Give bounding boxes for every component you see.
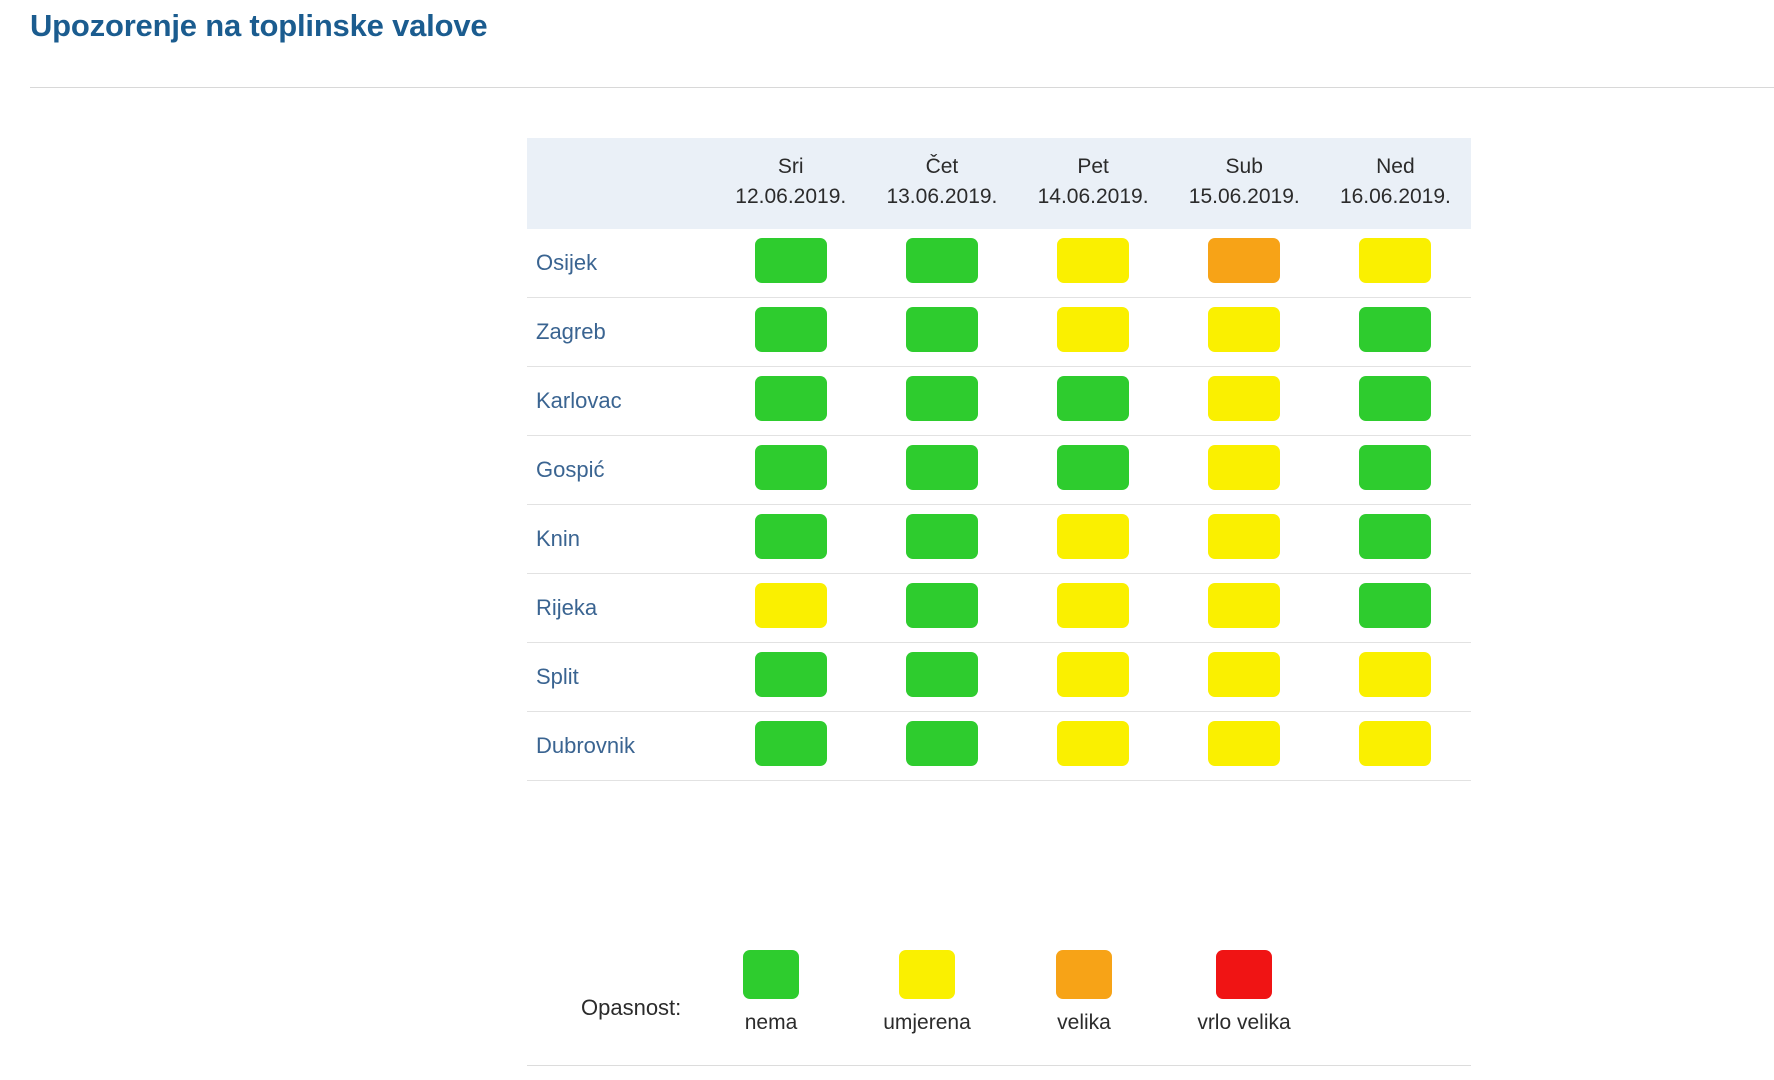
table-row: Gospić [527,435,1471,504]
column-header-weekday: Pet [1018,152,1169,182]
legend-caption: umjerena [857,1011,997,1035]
legend-item-vrlo-velika: vrlo velika [1174,950,1314,1035]
table-row: Osijek [527,229,1471,298]
warning-cell [866,229,1017,298]
danger-swatch-nema [906,652,978,697]
column-header-date: 16.06.2019. [1320,182,1471,212]
danger-swatch-umjerena [1057,583,1129,628]
column-header-date: 14.06.2019. [1018,182,1169,212]
danger-swatch-nema [906,583,978,628]
danger-swatch-nema [1057,445,1129,490]
warning-cell [1018,573,1169,642]
legend-swatch-vrlo-velika [1216,950,1272,999]
danger-swatch-nema [755,307,827,352]
warning-cell [1320,297,1471,366]
warning-cell [1169,573,1320,642]
title-divider [30,87,1774,88]
legend-caption: nema [701,1011,841,1035]
column-header-date: 15.06.2019. [1169,182,1320,212]
warning-cell [866,504,1017,573]
legend-swatch-velika [1056,950,1112,999]
legend: Opasnost: nemaumjerenavelikavrlo velika [527,940,1471,1066]
danger-swatch-nema [906,376,978,421]
city-label-rijeka: Rijeka [527,573,715,642]
warning-cell [1169,504,1320,573]
danger-swatch-umjerena [1359,721,1431,766]
warning-cell [1169,366,1320,435]
warning-cell [866,573,1017,642]
column-header-day-2: Pet14.06.2019. [1018,138,1169,229]
danger-swatch-nema [1057,376,1129,421]
legend-swatch-umjerena [899,950,955,999]
city-label-gospić: Gospić [527,435,715,504]
warning-cell [715,711,866,780]
danger-swatch-nema [906,445,978,490]
warning-cell [1018,711,1169,780]
warning-cell [1320,366,1471,435]
warning-cell [1018,504,1169,573]
city-label-dubrovnik: Dubrovnik [527,711,715,780]
warning-cell [1320,504,1471,573]
city-label-osijek: Osijek [527,229,715,298]
danger-swatch-nema [1359,583,1431,628]
danger-swatch-umjerena [1208,583,1280,628]
warning-cell [866,711,1017,780]
warning-cell [1018,229,1169,298]
warning-cell [1320,435,1471,504]
danger-swatch-umjerena [1057,238,1129,283]
warning-cell [1320,573,1471,642]
column-header-day-0: Sri12.06.2019. [715,138,866,229]
column-header-day-4: Ned16.06.2019. [1320,138,1471,229]
danger-swatch-nema [906,307,978,352]
column-header-day-3: Sub15.06.2019. [1169,138,1320,229]
legend-item-velika: velika [1014,950,1154,1035]
warning-cell [1169,642,1320,711]
danger-swatch-nema [755,721,827,766]
danger-swatch-umjerena [1208,376,1280,421]
danger-swatch-umjerena [1208,514,1280,559]
danger-swatch-nema [755,445,827,490]
table-body: OsijekZagrebKarlovacGospićKninRijekaSpli… [527,229,1471,781]
legend-swatch-nema [743,950,799,999]
city-label-split: Split [527,642,715,711]
danger-swatch-umjerena [1057,652,1129,697]
table-row: Knin [527,504,1471,573]
warning-cell [1320,711,1471,780]
table-row: Split [527,642,1471,711]
warning-cell [1169,711,1320,780]
warning-cell [1169,297,1320,366]
danger-swatch-nema [1359,514,1431,559]
danger-swatch-umjerena [1057,721,1129,766]
warning-cell [1018,435,1169,504]
heat-wave-warning-table: Sri12.06.2019.Čet13.06.2019.Pet14.06.201… [527,138,1471,781]
danger-swatch-nema [906,238,978,283]
legend-item-nema: nema [701,950,841,1035]
danger-swatch-umjerena [1359,238,1431,283]
column-header-weekday: Sub [1169,152,1320,182]
table-row: Dubrovnik [527,711,1471,780]
danger-swatch-nema [755,652,827,697]
danger-swatch-umjerena [1208,307,1280,352]
danger-swatch-umjerena [1208,721,1280,766]
danger-swatch-umjerena [1057,514,1129,559]
danger-swatch-nema [755,238,827,283]
warning-cell [715,366,866,435]
column-header-city [527,138,715,229]
table-row: Karlovac [527,366,1471,435]
warning-cell [715,229,866,298]
column-header-weekday: Ned [1320,152,1471,182]
danger-swatch-umjerena [1057,307,1129,352]
danger-swatch-nema [755,376,827,421]
page-title: Upozorenje na toplinske valove [30,8,487,44]
warning-cell [715,297,866,366]
column-header-date: 13.06.2019. [866,182,1017,212]
column-header-weekday: Sri [715,152,866,182]
danger-swatch-nema [906,514,978,559]
legend-caption: vrlo velika [1174,1011,1314,1035]
danger-swatch-nema [1359,307,1431,352]
warning-cell [1018,642,1169,711]
warning-cell [866,642,1017,711]
table-header: Sri12.06.2019.Čet13.06.2019.Pet14.06.201… [527,138,1471,229]
danger-swatch-velika [1208,238,1280,283]
danger-swatch-umjerena [755,583,827,628]
table-header-row: Sri12.06.2019.Čet13.06.2019.Pet14.06.201… [527,138,1471,229]
legend-label: Opasnost: [581,995,681,1021]
danger-swatch-umjerena [1208,445,1280,490]
column-header-day-1: Čet13.06.2019. [866,138,1017,229]
warning-cell [866,297,1017,366]
legend-item-umjerena: umjerena [857,950,997,1035]
city-label-knin: Knin [527,504,715,573]
city-label-karlovac: Karlovac [527,366,715,435]
warning-cell [1320,229,1471,298]
city-label-zagreb: Zagreb [527,297,715,366]
warning-cell [1018,297,1169,366]
warning-cell [1169,435,1320,504]
warning-cell [1320,642,1471,711]
column-header-weekday: Čet [866,152,1017,182]
table-row: Zagreb [527,297,1471,366]
warning-cell [1169,229,1320,298]
legend-caption: velika [1014,1011,1154,1035]
danger-swatch-nema [1359,445,1431,490]
warning-cell [866,366,1017,435]
warning-cell [715,573,866,642]
danger-swatch-umjerena [1208,652,1280,697]
danger-swatch-umjerena [1359,652,1431,697]
danger-swatch-nema [755,514,827,559]
warning-cell [715,504,866,573]
warning-cell [1018,366,1169,435]
danger-swatch-nema [1359,376,1431,421]
danger-swatch-nema [906,721,978,766]
column-header-date: 12.06.2019. [715,182,866,212]
table-row: Rijeka [527,573,1471,642]
warning-cell [866,435,1017,504]
warning-cell [715,642,866,711]
warning-cell [715,435,866,504]
